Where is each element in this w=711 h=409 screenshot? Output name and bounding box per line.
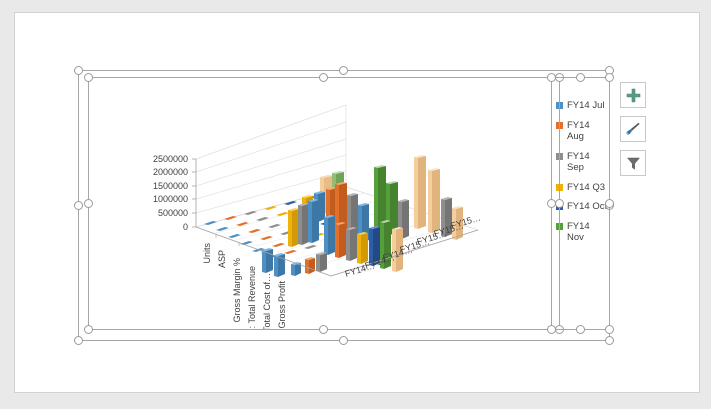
chart-styles-button[interactable] (620, 116, 646, 142)
resize-handle-s[interactable] (576, 325, 585, 334)
resize-handle-ne[interactable] (605, 73, 614, 82)
resize-handle-se[interactable] (605, 336, 614, 345)
screen: 2500000 2000000 1500000 1000000 500000 0… (0, 0, 711, 409)
resize-handle-e[interactable] (605, 199, 614, 208)
resize-handle-w[interactable] (74, 201, 83, 210)
resize-handle-n[interactable] (576, 73, 585, 82)
resize-handle-s[interactable] (319, 325, 328, 334)
resize-handle-sw[interactable] (84, 325, 93, 334)
resize-handle-sw[interactable] (74, 336, 83, 345)
resize-handle-n[interactable] (319, 73, 328, 82)
funnel-icon (626, 156, 641, 171)
chart-side-buttons (620, 82, 646, 184)
resize-handle-sw[interactable] (547, 325, 556, 334)
resize-handle-nw[interactable] (547, 73, 556, 82)
resize-handle-w[interactable] (84, 199, 93, 208)
resize-handle-se[interactable] (605, 325, 614, 334)
resize-handle-s[interactable] (339, 336, 348, 345)
chart-filters-button[interactable] (620, 150, 646, 176)
resize-handle-w[interactable] (547, 199, 556, 208)
plot-area-selection-frame[interactable] (88, 77, 560, 330)
plus-icon (626, 88, 641, 103)
paintbrush-icon (625, 121, 641, 137)
chart-elements-button[interactable] (620, 82, 646, 108)
resize-handle-n[interactable] (339, 66, 348, 75)
resize-handle-nw[interactable] (84, 73, 93, 82)
legend-selection-frame[interactable] (551, 77, 610, 330)
resize-handle-nw[interactable] (74, 66, 83, 75)
